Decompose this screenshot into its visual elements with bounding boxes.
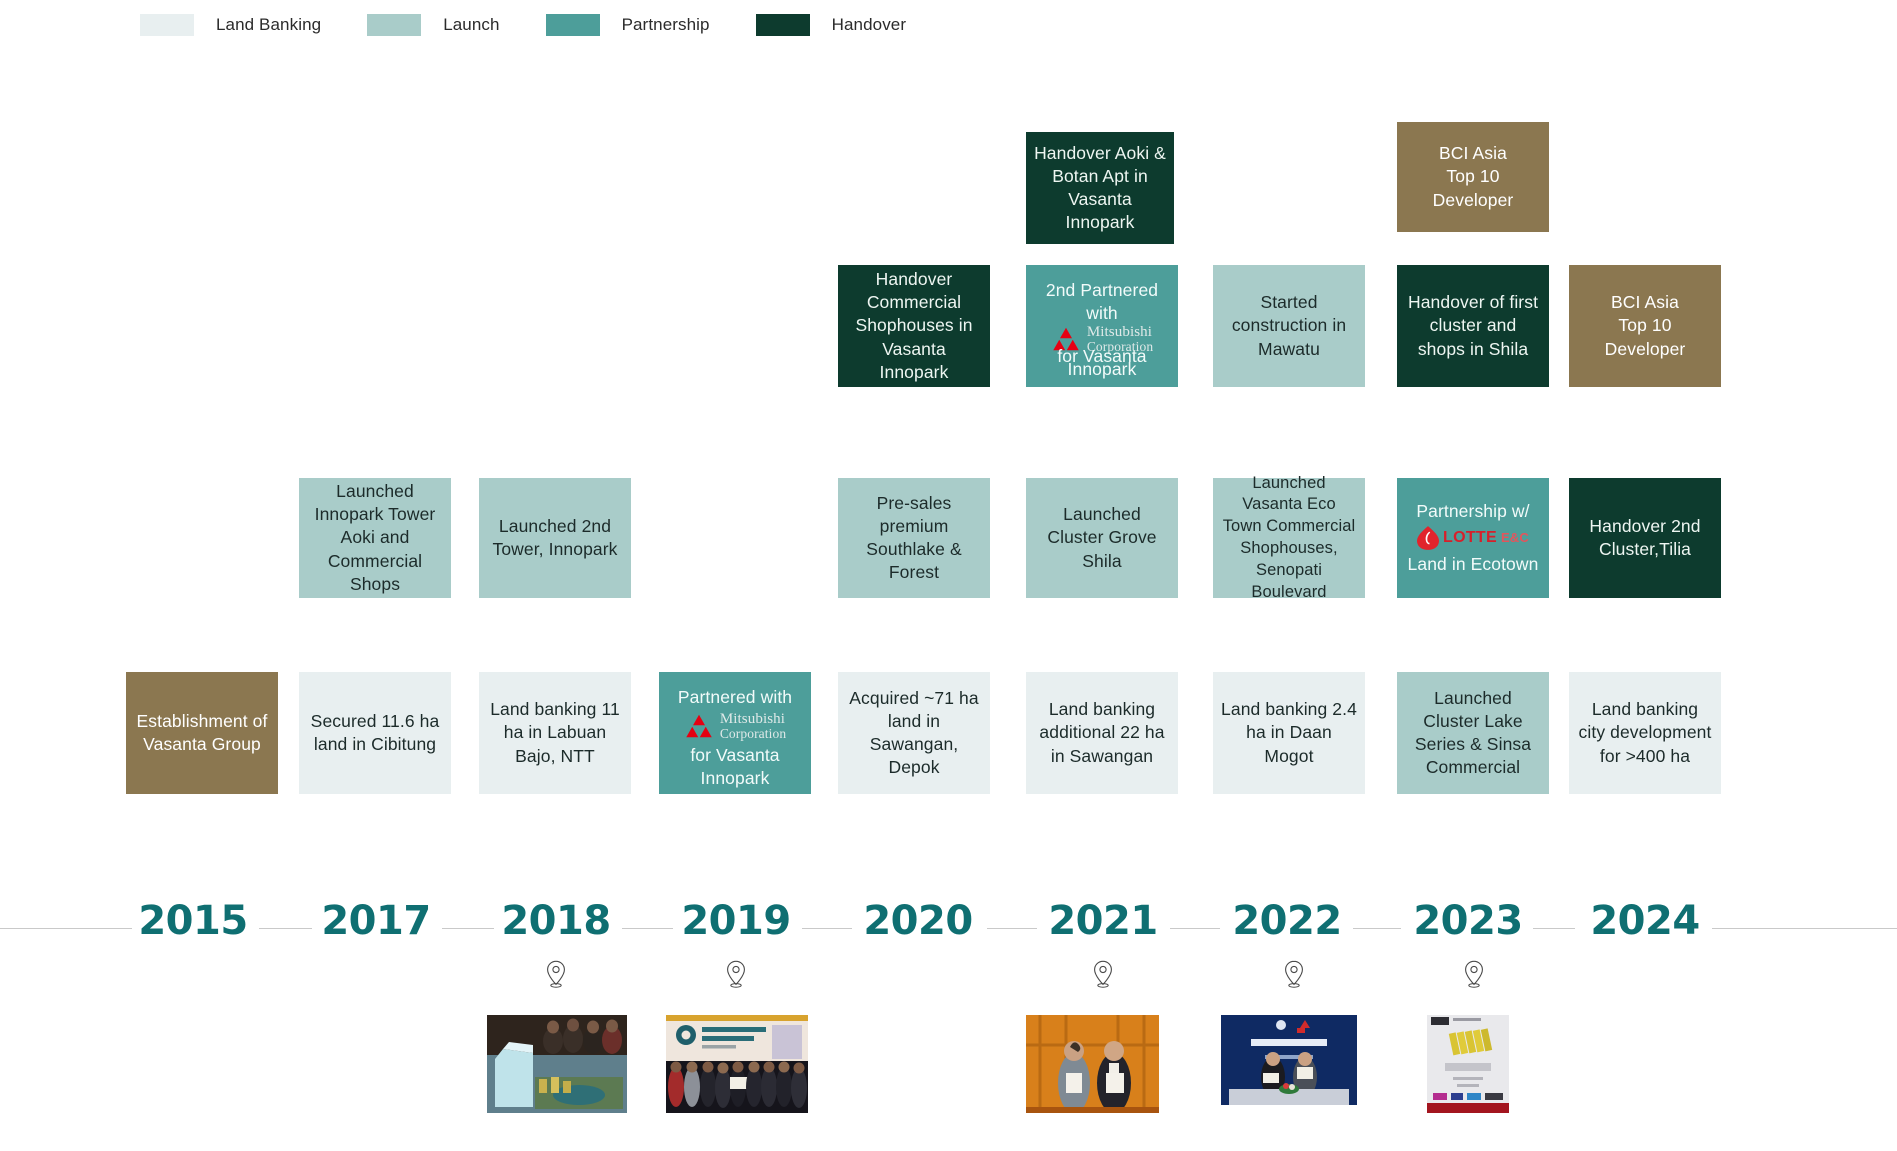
card-text: Land banking 2.4 ha in Daan Mogot <box>1221 698 1357 767</box>
location-pin-icon <box>545 960 567 988</box>
milestone-card-2024-city-development: Land banking city development for >400 h… <box>1569 672 1721 794</box>
card-text-line2: Top 10 Developer <box>1577 314 1713 360</box>
card-text-line1: BCI Asia <box>1577 291 1713 314</box>
milestone-card-2019-second-tower: Launched 2nd Tower, Innopark <box>479 478 631 598</box>
photo-2021-signing <box>1026 1015 1159 1113</box>
lotte-suffix: E&C <box>1501 529 1529 546</box>
location-pin-icon <box>1463 960 1485 988</box>
card-text: Acquired ~71 ha land in Sawangan, Depok <box>846 687 982 779</box>
axis-segment-2023-2024 <box>1533 928 1575 929</box>
location-pin-icon <box>1092 960 1114 988</box>
axis-segment-2021-2022 <box>1170 928 1220 929</box>
legend-swatch-icon <box>367 14 421 36</box>
card-text: Launched Cluster Lake Series & Sinsa Com… <box>1405 687 1541 779</box>
legend-swatch-icon <box>546 14 600 36</box>
year-label-2020: 2020 <box>851 898 985 944</box>
mitsubishi-logo-row: Mitsubishi Corporation <box>684 712 786 741</box>
milestone-card-2021-sawangan-additional: Land banking additional 22 ha in Sawanga… <box>1026 672 1178 794</box>
legend: Land Banking Launch Partnership Handover <box>140 14 952 36</box>
card-heading: Partnered with <box>667 686 803 709</box>
mitsubishi-sub: Corporation <box>720 727 786 741</box>
legend-swatch-icon <box>756 14 810 36</box>
year-label-2017: 2017 <box>309 898 443 944</box>
card-text: Pre-sales premium Southlake & Forest <box>846 492 982 584</box>
card-text: Land banking additional 22 ha in Sawanga… <box>1034 698 1170 767</box>
axis-segment-2017-2018 <box>442 928 494 929</box>
legend-label: Land Banking <box>216 15 321 35</box>
milestone-card-2022-mawatu-construction: Started construction in Mawatu <box>1213 265 1365 387</box>
card-heading: 2nd Partnered with <box>1034 279 1170 325</box>
legend-item-handover: Handover <box>756 14 907 36</box>
milestone-card-2021-handover-aoki: Handover Aoki & Botan Apt in Vasanta Inn… <box>1026 132 1174 244</box>
year-label-2019: 2019 <box>669 898 803 944</box>
milestone-card-2020-sawangan-depok: Acquired ~71 ha land in Sawangan, Depok <box>838 672 990 794</box>
milestone-card-2015-establishment: Establishment of Vasanta Group <box>126 672 278 794</box>
photo-2023-bci-award <box>1427 1015 1509 1113</box>
photo-2022-jva-signing <box>1219 1015 1359 1113</box>
legend-label: Launch <box>443 15 499 35</box>
year-label-2022: 2022 <box>1220 898 1354 944</box>
legend-item-land-banking: Land Banking <box>140 14 321 36</box>
mitsubishi-name: Mitsubishi <box>720 711 785 727</box>
year-label-2018: 2018 <box>489 898 623 944</box>
timeline-infographic: Land Banking Launch Partnership Handover… <box>0 0 1897 1151</box>
card-text: Secured 11.6 ha land in Cibitung <box>307 710 443 756</box>
card-text: Handover 2nd Cluster,Tilia <box>1577 515 1713 561</box>
milestone-card-2022-daan-mogot: Land banking 2.4 ha in Daan Mogot <box>1213 672 1365 794</box>
card-overlay-text: for Vasanta <box>1034 345 1170 368</box>
axis-segment-2018-2019 <box>622 928 673 929</box>
card-tail-text-1: for Vasanta <box>667 744 803 767</box>
photo-2019-signing-ceremony <box>666 1015 808 1113</box>
card-text: Started construction in Mawatu <box>1221 291 1357 360</box>
axis-segment-start <box>0 928 132 929</box>
card-text: Establishment of Vasanta Group <box>134 710 270 756</box>
mitsubishi-three-diamonds-icon <box>684 713 714 739</box>
legend-label: Partnership <box>622 15 710 35</box>
card-text-line1: BCI Asia <box>1405 142 1541 165</box>
card-text: Launched Cluster Grove Shila <box>1034 503 1170 572</box>
legend-item-launch: Launch <box>367 14 499 36</box>
card-text: Handover Commercial Shophouses in Vasant… <box>846 268 982 383</box>
legend-swatch-icon <box>140 14 194 36</box>
lotte-badge-icon <box>1417 526 1439 550</box>
axis-segment-2022-2023 <box>1353 928 1401 929</box>
milestone-card-2021-grove-shila: Launched Cluster Grove Shila <box>1026 478 1178 598</box>
card-text: Launched Vasanta Eco Town Commercial Sho… <box>1221 473 1357 604</box>
milestone-card-2018-innopark-tower: Launched Innopark Tower Aoki and Commerc… <box>299 478 451 598</box>
milestone-card-2023-bci-award: BCI Asia Top 10 Developer <box>1397 122 1549 232</box>
milestone-card-2024-handover-tilia: Handover 2nd Cluster,Tilia <box>1569 478 1721 598</box>
year-label-2021: 2021 <box>1036 898 1170 944</box>
year-label-2024: 2024 <box>1578 898 1712 944</box>
card-text: Land banking city development for >400 h… <box>1577 698 1713 767</box>
card-text: Handover Aoki & Botan Apt in Vasanta Inn… <box>1034 142 1166 234</box>
card-heading: Partnership w/ <box>1405 500 1541 523</box>
card-tail-text: Land in Ecotown <box>1405 553 1541 576</box>
milestone-card-2024-bci-award: BCI Asia Top 10 Developer <box>1569 265 1721 387</box>
milestone-card-2018-labuan-bajo: Land banking 11 ha in Labuan Bajo, NTT <box>479 672 631 794</box>
mitsubishi-logo-overlap: Mitsubishi Corporation for Vasanta <box>1034 325 1170 358</box>
year-label-2015: 2015 <box>126 898 260 944</box>
lotte-wordmark: LOTTE <box>1443 527 1497 548</box>
milestone-card-2021-mitsubishi-partnership: 2nd Partnered with Mitsubishi Corporatio… <box>1026 265 1178 387</box>
axis-segment-end <box>1712 928 1897 929</box>
mitsubishi-name: Mitsubishi <box>1087 324 1152 340</box>
milestone-card-2023-handover-shila: Handover of first cluster and shops in S… <box>1397 265 1549 387</box>
mitsubishi-wordmark: Mitsubishi Corporation <box>720 712 786 741</box>
year-label-2023: 2023 <box>1401 898 1535 944</box>
axis-segment-2015-2017 <box>259 928 312 929</box>
milestone-card-2022-ecotown-shophouses: Launched Vasanta Eco Town Commercial Sho… <box>1213 478 1365 598</box>
card-text: Land banking 11 ha in Labuan Bajo, NTT <box>487 698 623 767</box>
lotte-logo-row: LOTTE E&C <box>1417 526 1529 550</box>
card-text: Launched Innopark Tower Aoki and Commerc… <box>307 480 443 595</box>
card-text-line2: Top 10 Developer <box>1405 165 1541 211</box>
axis-segment-2020-2021 <box>987 928 1037 929</box>
legend-label: Handover <box>832 15 907 35</box>
milestone-card-2020-presales-southlake: Pre-sales premium Southlake & Forest <box>838 478 990 598</box>
milestone-card-2017-cibitung: Secured 11.6 ha land in Cibitung <box>299 672 451 794</box>
card-text: Handover of first cluster and shops in S… <box>1405 291 1541 360</box>
legend-item-partnership: Partnership <box>546 14 710 36</box>
location-pin-icon <box>1283 960 1305 988</box>
photo-2018-model-launch <box>487 1015 627 1113</box>
axis-segment-2019-2020 <box>802 928 852 929</box>
milestone-card-2023-lake-series-sinsa: Launched Cluster Lake Series & Sinsa Com… <box>1397 672 1549 794</box>
location-pin-icon <box>725 960 747 988</box>
milestone-card-2019-mitsubishi-partnership: Partnered with Mitsubishi Corporation fo… <box>659 672 811 794</box>
milestone-card-2023-lotte-partnership: Partnership w/ LOTTE E&C Land in Ecotown <box>1397 478 1549 598</box>
card-text: Launched 2nd Tower, Innopark <box>487 515 623 561</box>
card-tail-text-2: Innopark <box>667 767 803 790</box>
milestone-card-2020-handover-shophouses: Handover Commercial Shophouses in Vasant… <box>838 265 990 387</box>
